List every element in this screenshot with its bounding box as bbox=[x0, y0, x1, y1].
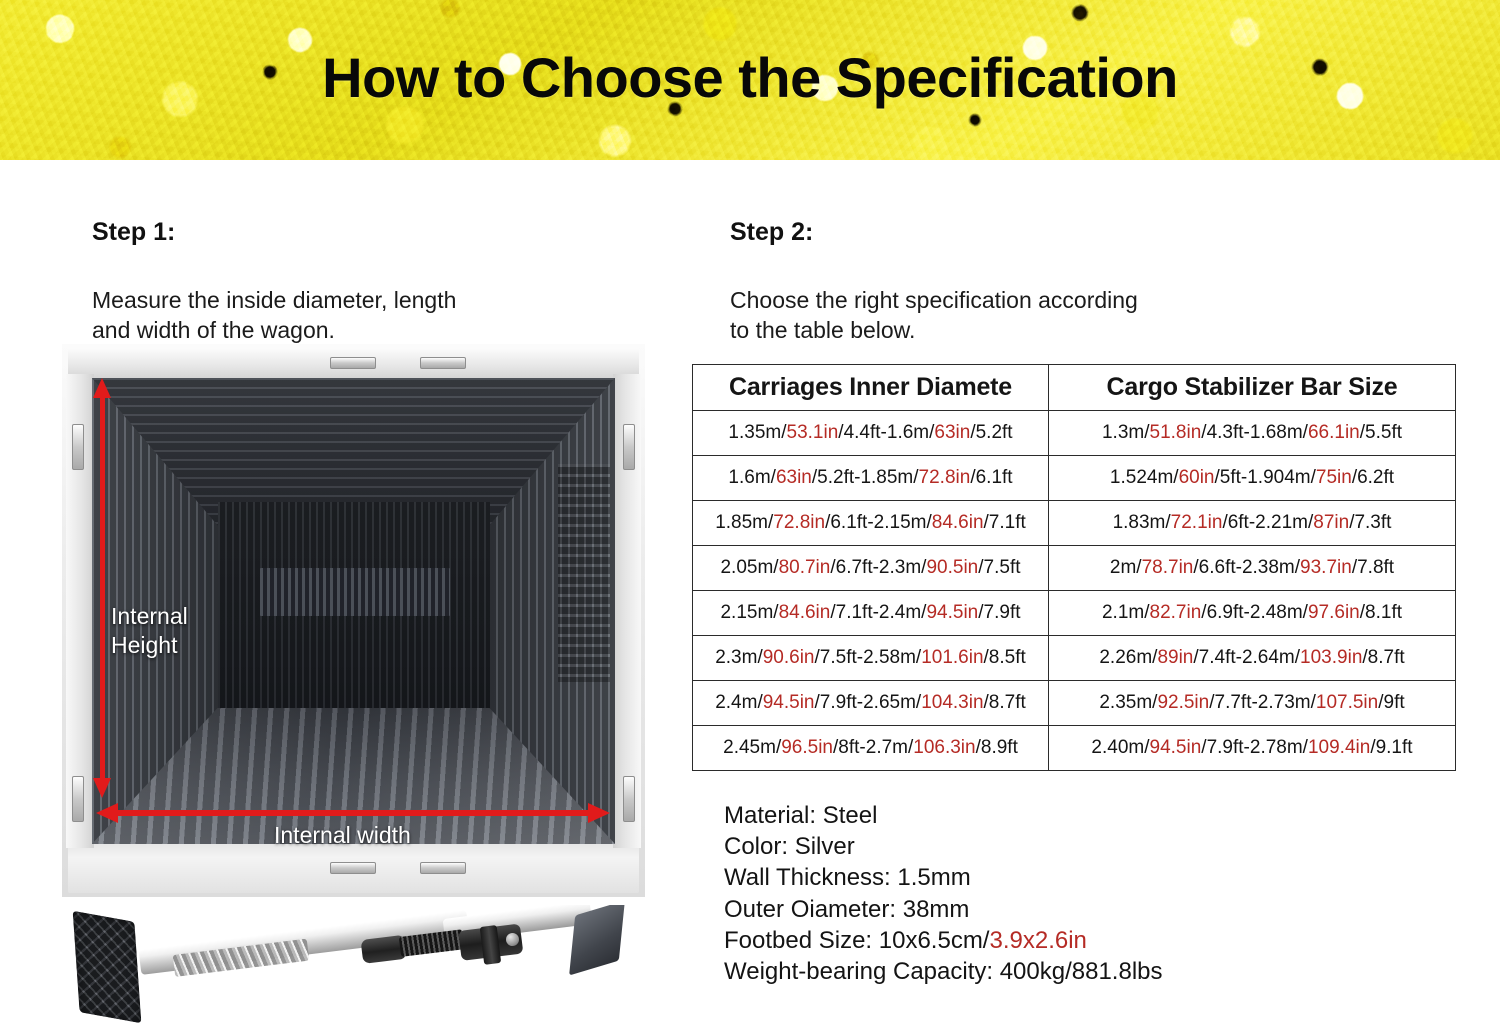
header-banner: How to Choose the Specification bbox=[0, 0, 1500, 160]
table-row: 2.3m/90.6in/7.5ft-2.58m/101.6in/8.5ft2.2… bbox=[693, 636, 1456, 681]
metric-value: /8.7ft bbox=[984, 692, 1026, 713]
inch-value: 72.8in bbox=[919, 467, 971, 488]
metric-value: /4.3ft-1.68m/ bbox=[1201, 422, 1308, 443]
spec-text: Outer Oiameter: 38mm bbox=[724, 896, 969, 923]
metric-value: /9.1ft bbox=[1370, 737, 1412, 758]
width-arrow-line bbox=[116, 810, 592, 816]
metric-value: 2.1m/ bbox=[1102, 602, 1150, 623]
table-body: 1.35m/53.1in/4.4ft-1.6m/63in/5.2ft1.3m/5… bbox=[693, 411, 1456, 771]
metric-value: /6.1ft bbox=[970, 467, 1012, 488]
cell-carriage-inner-diameter: 2.05m/80.7in/6.7ft-2.3m/90.5in/7.5ft bbox=[693, 546, 1049, 591]
inch-value: 90.6in bbox=[763, 647, 815, 668]
table-header-row: Carriages Inner Diamete Cargo Stabilizer… bbox=[693, 365, 1456, 411]
metric-value: 2.4m/ bbox=[715, 692, 763, 713]
inch-value: 60in bbox=[1179, 467, 1215, 488]
metric-value: /7.1ft bbox=[984, 512, 1026, 533]
inch-value: 103.9in bbox=[1300, 647, 1362, 668]
cell-carriage-inner-diameter: 1.85m/72.8in/6.1ft-2.15m/84.6in/7.1ft bbox=[693, 501, 1049, 546]
inch-value: 94.5in bbox=[763, 692, 815, 713]
step-1-body: Measure the inside diameter, length and … bbox=[92, 285, 662, 346]
inch-value: 107.5in bbox=[1316, 692, 1378, 713]
metric-value: 1.35m/ bbox=[728, 422, 786, 443]
spec-line: Wall Thickness: 1.5mm bbox=[724, 862, 1424, 893]
metric-value: 2.35m/ bbox=[1099, 692, 1157, 713]
metric-value: /7.8ft bbox=[1352, 557, 1394, 578]
table-row: 1.6m/63in/5.2ft-1.85m/72.8in/6.1ft1.524m… bbox=[693, 456, 1456, 501]
inch-value: 84.6in bbox=[779, 602, 831, 623]
cell-carriage-inner-diameter: 1.35m/53.1in/4.4ft-1.6m/63in/5.2ft bbox=[693, 411, 1049, 456]
metric-value: /8.1ft bbox=[1360, 602, 1402, 623]
latch-side-right-upper-icon bbox=[623, 424, 635, 470]
metric-value: 1.6m/ bbox=[728, 467, 776, 488]
metric-value: /7.4ft-2.64m/ bbox=[1193, 647, 1300, 668]
spec-highlight-value: 3.9x2.6in bbox=[989, 927, 1086, 954]
inch-value: 78.7in bbox=[1142, 557, 1194, 578]
inch-value: 72.8in bbox=[773, 512, 825, 533]
metric-value: 2m/ bbox=[1110, 557, 1142, 578]
column-header-carriage-inner-diameter: Carriages Inner Diamete bbox=[693, 365, 1049, 411]
specification-table-container: Carriages Inner Diamete Cargo Stabilizer… bbox=[692, 364, 1455, 771]
metric-value: /6.1ft-2.15m/ bbox=[825, 512, 932, 533]
inch-value: 84.6in bbox=[932, 512, 984, 533]
metric-value: 2.05m/ bbox=[720, 557, 778, 578]
metric-value: /7.5ft-2.58m/ bbox=[815, 647, 922, 668]
cell-carriage-inner-diameter: 2.15m/84.6in/7.1ft-2.4m/94.5in/7.9ft bbox=[693, 591, 1049, 636]
step-2-block: Step 2: Choose the right specification a… bbox=[730, 218, 1470, 346]
table-row: 2.15m/84.6in/7.1ft-2.4m/94.5in/7.9ft2.1m… bbox=[693, 591, 1456, 636]
step-2-body: Choose the right specification according… bbox=[730, 285, 1470, 346]
latch-side-left-upper-icon bbox=[72, 424, 84, 470]
spec-text: Color: Silver bbox=[724, 833, 855, 860]
metric-value: /8ft-2.7m/ bbox=[833, 737, 913, 758]
metric-value: /7.9ft bbox=[978, 602, 1020, 623]
inch-value: 96.5in bbox=[781, 737, 833, 758]
cell-bar-size: 2.35m/92.5in/7.7ft-2.73m/107.5in/9ft bbox=[1049, 681, 1456, 726]
step-1-body-line-2: and width of the wagon. bbox=[92, 315, 662, 345]
spec-text: Wall Thickness: 1.5mm bbox=[724, 864, 971, 891]
step-1-body-line-1: Measure the inside diameter, length bbox=[92, 285, 662, 315]
bar-adjust-knob bbox=[506, 933, 519, 946]
inch-value: 82.7in bbox=[1150, 602, 1202, 623]
product-specs-list: Material: SteelColor: SilverWall Thickne… bbox=[724, 800, 1424, 987]
specification-infographic: How to Choose the Specification Step 1: … bbox=[0, 0, 1500, 1036]
internal-height-label-line-1: Internal bbox=[111, 602, 188, 631]
table-head: Carriages Inner Diamete Cargo Stabilizer… bbox=[693, 365, 1456, 411]
cell-bar-size: 2.40m/94.5in/7.9ft-2.78m/109.4in/9.1ft bbox=[1049, 726, 1456, 771]
metric-value: 2.3m/ bbox=[715, 647, 763, 668]
metric-value: /8.5ft bbox=[984, 647, 1026, 668]
step-1-block: Step 1: Measure the inside diameter, len… bbox=[92, 218, 662, 346]
spec-line: Material: Steel bbox=[724, 800, 1424, 831]
inch-value: 89in bbox=[1157, 647, 1193, 668]
cell-carriage-inner-diameter: 2.4m/94.5in/7.9ft-2.65m/104.3in/8.7ft bbox=[693, 681, 1049, 726]
cell-bar-size: 1.524m/60in/5ft-1.904m/75in/6.2ft bbox=[1049, 456, 1456, 501]
height-arrow-line bbox=[100, 392, 105, 786]
metric-value: /7.3ft bbox=[1349, 512, 1391, 533]
cell-carriage-inner-diameter: 1.6m/63in/5.2ft-1.85m/72.8in/6.1ft bbox=[693, 456, 1049, 501]
inch-value: 87in bbox=[1313, 512, 1349, 533]
metric-value: /6.2ft bbox=[1352, 467, 1394, 488]
inch-value: 101.6in bbox=[921, 647, 983, 668]
latch-top-left-icon bbox=[330, 357, 376, 369]
metric-value: 1.524m/ bbox=[1110, 467, 1179, 488]
width-arrow-head-right-icon bbox=[588, 803, 610, 823]
metric-value: /7.1ft-2.4m/ bbox=[830, 602, 926, 623]
cell-bar-size: 1.83m/72.1in/6ft-2.21m/87in/7.3ft bbox=[1049, 501, 1456, 546]
cell-carriage-inner-diameter: 2.45m/96.5in/8ft-2.7m/106.3in/8.9ft bbox=[693, 726, 1049, 771]
spec-line: Footbed Size: 10x6.5cm/3.9x2.6in bbox=[724, 925, 1424, 956]
wagon-interior-photo: Internal Height Internal width bbox=[62, 344, 645, 897]
spec-text: Weight-bearing Capacity: 400kg/881.8lbs bbox=[724, 958, 1163, 985]
inch-value: 51.8in bbox=[1150, 422, 1202, 443]
metric-value: 1.3m/ bbox=[1102, 422, 1150, 443]
spec-text: Material: Steel bbox=[724, 802, 877, 829]
page-title: How to Choose the Specification bbox=[0, 0, 1500, 160]
metric-value: /8.9ft bbox=[976, 737, 1018, 758]
container-vent-grille bbox=[260, 568, 450, 616]
metric-value: /6.6ft-2.38m/ bbox=[1193, 557, 1300, 578]
metric-value: 2.26m/ bbox=[1099, 647, 1157, 668]
table-row: 2.45m/96.5in/8ft-2.7m/106.3in/8.9ft2.40m… bbox=[693, 726, 1456, 771]
inch-value: 63in bbox=[776, 467, 812, 488]
internal-height-label: Internal Height bbox=[111, 602, 188, 660]
inch-value: 109.4in bbox=[1308, 737, 1370, 758]
metric-value: /4.4ft-1.6m/ bbox=[838, 422, 934, 443]
internal-height-label-line-2: Height bbox=[111, 631, 188, 660]
metric-value: /7.9ft-2.78m/ bbox=[1201, 737, 1308, 758]
inch-value: 97.6in bbox=[1308, 602, 1360, 623]
table-row: 2.05m/80.7in/6.7ft-2.3m/90.5in/7.5ft2m/7… bbox=[693, 546, 1456, 591]
cargo-stabilizer-bar-photo bbox=[62, 905, 645, 1029]
metric-value: /6.7ft-2.3m/ bbox=[830, 557, 926, 578]
container-door-gap bbox=[558, 464, 610, 682]
width-arrow-head-left-icon bbox=[96, 803, 118, 823]
table-row: 2.4m/94.5in/7.9ft-2.65m/104.3in/8.7ft2.3… bbox=[693, 681, 1456, 726]
specification-table: Carriages Inner Diamete Cargo Stabilizer… bbox=[692, 364, 1456, 771]
metric-value: /6ft-2.21m/ bbox=[1222, 512, 1313, 533]
inch-value: 63in bbox=[934, 422, 970, 443]
inch-value: 94.5in bbox=[926, 602, 978, 623]
column-header-bar-size: Cargo Stabilizer Bar Size bbox=[1049, 365, 1456, 411]
step-2-body-line-2: to the table below. bbox=[730, 315, 1470, 345]
metric-value: 1.83m/ bbox=[1113, 512, 1171, 533]
height-arrow-head-bottom-icon bbox=[93, 778, 111, 798]
inch-value: 92.5in bbox=[1157, 692, 1209, 713]
metric-value: 2.45m/ bbox=[723, 737, 781, 758]
inch-value: 94.5in bbox=[1150, 737, 1202, 758]
latch-bottom-right-icon bbox=[420, 862, 466, 874]
inch-value: 66.1in bbox=[1308, 422, 1360, 443]
cell-bar-size: 1.3m/51.8in/4.3ft-1.68m/66.1in/5.5ft bbox=[1049, 411, 1456, 456]
cell-bar-size: 2.1m/82.7in/6.9ft-2.48m/97.6in/8.1ft bbox=[1049, 591, 1456, 636]
table-row: 1.35m/53.1in/4.4ft-1.6m/63in/5.2ft1.3m/5… bbox=[693, 411, 1456, 456]
step-2-body-line-1: Choose the right specification according bbox=[730, 285, 1470, 315]
bar-footpad-left bbox=[73, 911, 142, 1024]
metric-value: /8.7ft bbox=[1362, 647, 1404, 668]
spec-text: Footbed Size: 10x6.5cm/ bbox=[724, 927, 989, 954]
latch-top-right-icon bbox=[420, 357, 466, 369]
cell-bar-size: 2m/78.7in/6.6ft-2.38m/93.7in/7.8ft bbox=[1049, 546, 1456, 591]
metric-value: /6.9ft-2.48m/ bbox=[1201, 602, 1308, 623]
metric-value: /7.9ft-2.65m/ bbox=[815, 692, 922, 713]
cell-bar-size: 2.26m/89in/7.4ft-2.64m/103.9in/8.7ft bbox=[1049, 636, 1456, 681]
inch-value: 104.3in bbox=[921, 692, 983, 713]
inch-value: 90.5in bbox=[926, 557, 978, 578]
latch-bottom-left-icon bbox=[330, 862, 376, 874]
metric-value: 2.40m/ bbox=[1091, 737, 1149, 758]
spec-line: Weight-bearing Capacity: 400kg/881.8lbs bbox=[724, 956, 1424, 987]
metric-value: /5.2ft bbox=[970, 422, 1012, 443]
metric-value: 2.15m/ bbox=[720, 602, 778, 623]
metric-value: /7.7ft-2.73m/ bbox=[1209, 692, 1316, 713]
inch-value: 106.3in bbox=[913, 737, 975, 758]
step-2-heading: Step 2: bbox=[730, 218, 1470, 247]
cell-carriage-inner-diameter: 2.3m/90.6in/7.5ft-2.58m/101.6in/8.5ft bbox=[693, 636, 1049, 681]
inch-value: 72.1in bbox=[1171, 512, 1223, 533]
metric-value: /5.5ft bbox=[1360, 422, 1402, 443]
metric-value: /5.2ft-1.85m/ bbox=[812, 467, 919, 488]
internal-width-label: Internal width bbox=[274, 822, 411, 849]
inch-value: 93.7in bbox=[1300, 557, 1352, 578]
latch-side-left-lower-icon bbox=[72, 776, 84, 822]
metric-value: /9ft bbox=[1378, 692, 1404, 713]
inch-value: 53.1in bbox=[787, 422, 839, 443]
spec-line: Outer Oiameter: 38mm bbox=[724, 894, 1424, 925]
inch-value: 80.7in bbox=[779, 557, 831, 578]
spec-line: Color: Silver bbox=[724, 831, 1424, 862]
table-row: 1.85m/72.8in/6.1ft-2.15m/84.6in/7.1ft1.8… bbox=[693, 501, 1456, 546]
step-1-heading: Step 1: bbox=[92, 218, 662, 247]
bar-footpad-right bbox=[569, 905, 625, 975]
inch-value: 75in bbox=[1316, 467, 1352, 488]
metric-value: 1.85m/ bbox=[715, 512, 773, 533]
metric-value: /7.5ft bbox=[978, 557, 1020, 578]
latch-side-right-lower-icon bbox=[623, 776, 635, 822]
metric-value: /5ft-1.904m/ bbox=[1215, 467, 1316, 488]
